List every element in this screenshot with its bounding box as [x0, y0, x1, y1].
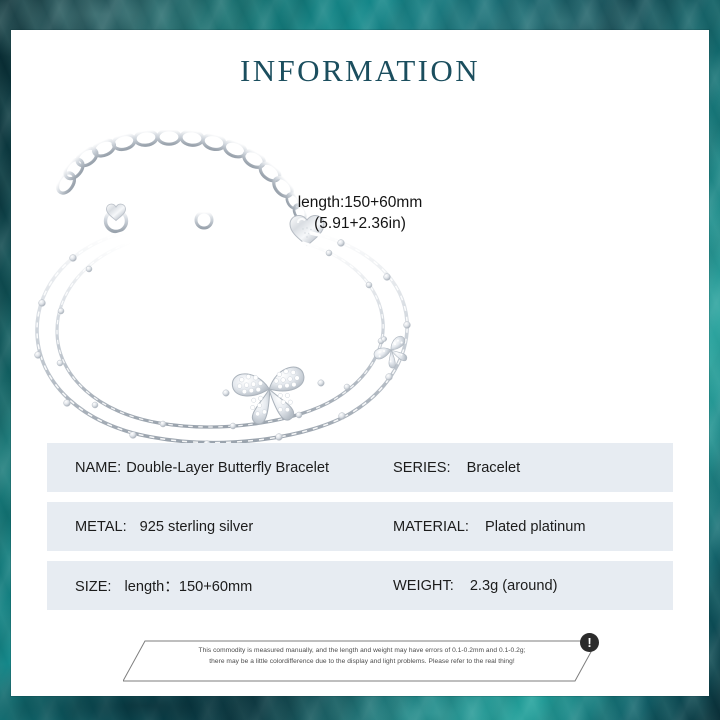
length-overlay-line2: (5.91+2.36in) [11, 214, 709, 235]
spec-value-name: Double-Layer Butterfly Bracelet [126, 460, 329, 476]
table-row: NAME: Double-Layer Butterfly Bracelet SE… [47, 443, 673, 492]
length-overlay-line1: length:150+60mm [11, 193, 709, 214]
spec-value-series: Bracelet [467, 460, 521, 476]
spec-key-series: SERIES: [393, 460, 451, 476]
product-photo [11, 125, 709, 445]
spec-cell-weight: WEIGHT: 2.3g (around) [387, 578, 557, 594]
spec-value-material: Plated platinum [485, 519, 586, 535]
spec-cell-metal: METAL: 925 sterling silver [47, 519, 387, 535]
spec-key-metal: METAL: [75, 519, 127, 535]
spec-table: NAME: Double-Layer Butterfly Bracelet SE… [47, 443, 673, 620]
spec-cell-series: SERIES: Bracelet [387, 460, 520, 476]
spec-key-size: SIZE: [75, 579, 112, 595]
table-row: SIZE: length：150+60mm WEIGHT: 2.3g (arou… [47, 561, 673, 610]
spec-value-weight: 2.3g (around) [470, 578, 558, 594]
disclaimer-banner: This commodity is measured manually, and… [123, 635, 597, 687]
spec-value-size: length：150+60mm [125, 575, 253, 596]
disclaimer-text: This commodity is measured manually, and… [153, 646, 571, 667]
spec-cell-name: NAME: Double-Layer Butterfly Bracelet [47, 460, 387, 476]
spec-key-name: NAME: [75, 460, 121, 476]
disclaimer-line2: there may be a little colordifference du… [153, 657, 571, 668]
disclaimer-line1: This commodity is measured manually, and… [153, 646, 571, 657]
exclamation-icon: ! [580, 633, 599, 652]
spec-value-metal: 925 sterling silver [140, 519, 254, 535]
spec-cell-size: SIZE: length：150+60mm [47, 575, 387, 596]
table-row: METAL: 925 sterling silver MATERIAL: Pla… [47, 502, 673, 551]
teal-silk-border-frame: INFORMATION [0, 0, 720, 720]
spec-cell-material: MATERIAL: Plated platinum [387, 519, 586, 535]
information-card: INFORMATION [11, 30, 709, 696]
page-title: INFORMATION [11, 53, 709, 89]
spec-key-material: MATERIAL: [393, 519, 469, 535]
length-overlay-label: length:150+60mm (5.91+2.36in) [11, 193, 709, 235]
spec-key-weight: WEIGHT: [393, 578, 454, 594]
